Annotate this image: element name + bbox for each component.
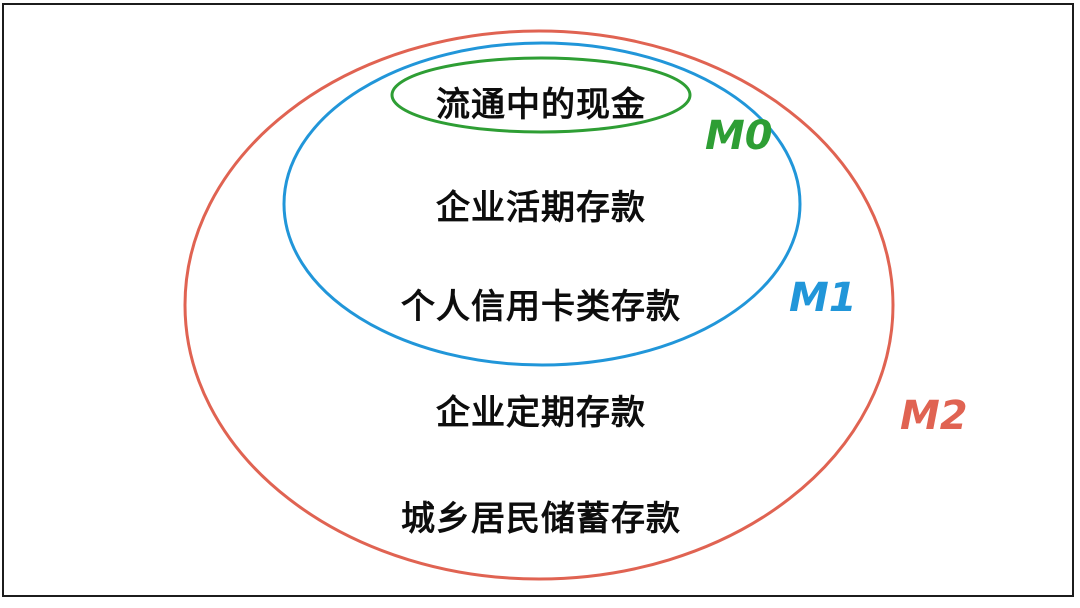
- category-label-personal-credit-card: 个人信用卡类存款: [401, 279, 681, 328]
- category-label-corporate-demand: 企业活期存款: [436, 180, 646, 229]
- category-label-cash-in-circulation: 流通中的现金: [436, 77, 646, 126]
- diagram-canvas: 流通中的现金企业活期存款个人信用卡类存款企业定期存款城乡居民储蓄存款 M0M1M…: [0, 0, 1080, 608]
- category-label-corporate-time-deposit: 企业定期存款: [436, 385, 646, 434]
- set-label-m1[interactable]: M1: [789, 275, 857, 321]
- set-label-m0[interactable]: M0: [705, 113, 773, 159]
- category-label-household-savings: 城乡居民储蓄存款: [401, 491, 681, 540]
- set-label-m2[interactable]: M2: [900, 393, 968, 439]
